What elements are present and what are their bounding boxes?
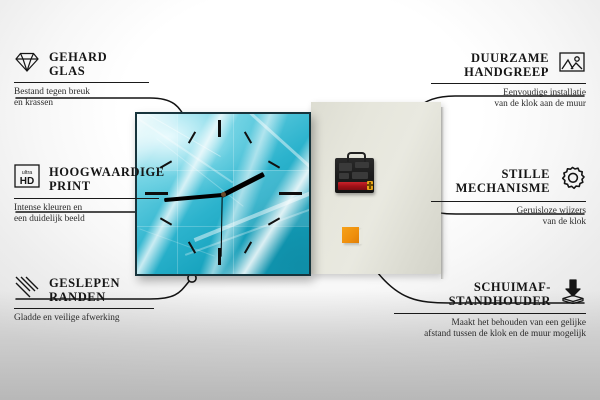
feature-divider [14,308,154,309]
clock-product-photo [135,100,345,290]
feature-stille-mechanisme[interactable]: STILLE MECHANISME Geruisloze wijzers van… [431,165,586,228]
mechanism-detail [355,162,369,168]
mechanism-detail [339,163,352,171]
feature-subtitle: Intense kleuren en een duidelijk beeld [14,203,159,225]
feature-subtitle: Gladde en veilige afwerking [14,313,154,324]
picture-frame-icon [558,50,586,79]
mechanism-detail [339,173,349,179]
feather-streak [213,112,311,168]
clock-tick-1 [244,131,252,143]
clock-tick-8 [160,217,172,225]
foam-spacer-pad [342,227,359,243]
feature-subtitle: Eenvoudige installatie van de klok aan d… [431,88,586,110]
mechanism-hanger [347,152,366,162]
clock-tick-5 [244,241,252,253]
ultra-hd-icon: ultra HD [14,163,40,194]
feature-title: GESLEPEN RANDEN [49,276,120,304]
feature-divider [431,83,586,84]
clock-center-pivot [221,192,226,197]
feature-divider [394,313,586,314]
diagonal-lines-icon [14,275,40,304]
feature-subtitle: Bestand tegen breuk en krassen [14,87,149,109]
mechanism-detail [352,172,368,179]
feature-title: STILLE MECHANISME [456,167,550,195]
feature-divider [14,82,149,83]
feature-subtitle: Geruisloze wijzers van de klok [431,206,586,228]
feature-schuimaf-standhouder[interactable]: SCHUIMAF- STANDHOUDER Maakt het behouden… [394,278,586,340]
clock-mechanism [335,158,374,193]
feature-title: GEHARD GLAS [49,50,107,78]
feature-divider [431,201,586,202]
clock-tick-12 [218,120,221,137]
feature-gehard-glas[interactable]: GEHARD GLAS Bestand tegen breuk en krass… [14,50,149,109]
gear-icon [559,165,586,197]
feature-hoogwaardige-print[interactable]: ultra HD HOOGWAARDIGE PRINT Intense kleu… [14,163,159,225]
feature-title: SCHUIMAF- STANDHOUDER [449,280,551,308]
feature-title: DUURZAME HANDGREEP [464,51,549,79]
feature-subtitle: Maakt het behouden van een gelijke afsta… [394,318,586,340]
clock-tick-3 [279,192,302,195]
clock-back-panel [311,102,441,274]
diamond-icon [14,51,40,78]
clock-tick-2 [268,160,280,168]
feature-duurzame-handgreep[interactable]: DUURZAME HANDGREEP Eenvoudige installati… [431,50,586,110]
foam-stand-icon [560,278,586,309]
feature-geslepen-randen[interactable]: GESLEPEN RANDEN Gladde en veilige afwerk… [14,275,154,324]
infographic-canvas: GEHARD GLAS Bestand tegen breuk en krass… [0,0,600,400]
glass-clock-face [135,112,311,276]
glass-grid-line [177,114,178,274]
clock-minute-hand [164,193,222,202]
feature-divider [14,198,159,199]
battery-terminal [367,181,373,190]
battery [338,182,371,190]
feature-title: HOOGWAARDIGE PRINT [49,165,165,193]
svg-text:HD: HD [20,176,34,187]
